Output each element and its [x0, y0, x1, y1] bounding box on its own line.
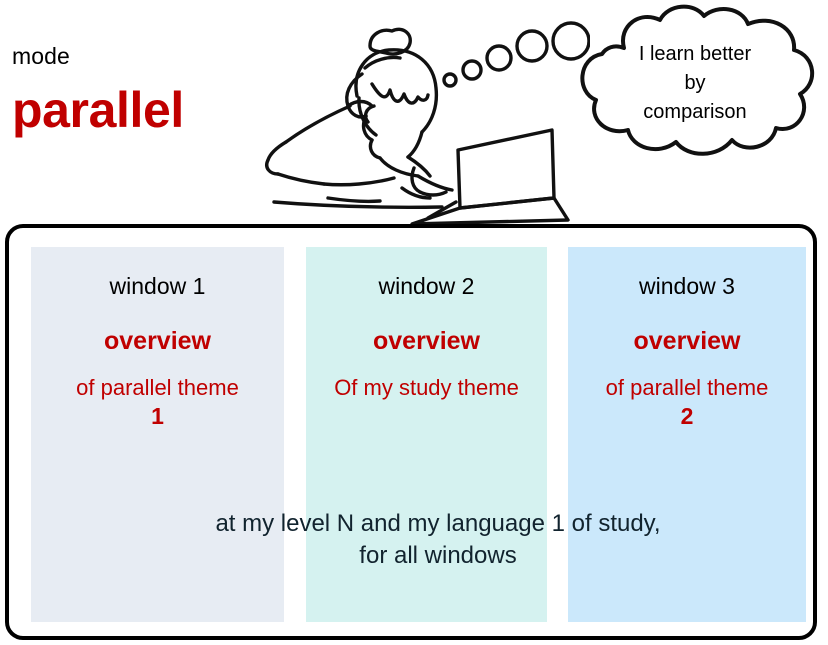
window-1-subtitle: of parallel theme: [31, 373, 284, 403]
windows-row: window 1 overview of parallel theme 1 wi…: [31, 247, 801, 622]
window-panel-1[interactable]: window 1 overview of parallel theme 1: [31, 247, 284, 622]
window-1-title: window 1: [31, 273, 284, 299]
window-3-title: window 3: [568, 273, 806, 299]
mode-label: mode: [12, 45, 70, 68]
windows-panel: window 1 overview of parallel theme 1 wi…: [5, 224, 817, 640]
window-1-overview: overview: [31, 327, 284, 356]
window-1-index: 1: [31, 403, 284, 431]
thought-bubble-line-3: comparison: [600, 98, 790, 127]
window-3-subtitle: of parallel theme: [568, 373, 806, 403]
window-2-subtitle: Of my study theme: [306, 373, 547, 403]
window-panel-2[interactable]: window 2 overview Of my study theme: [306, 247, 547, 622]
thought-bubble-line-2: by: [600, 69, 790, 98]
header-area: mode parallel: [0, 0, 828, 224]
mode-value: parallel: [12, 82, 184, 140]
window-3-overview: overview: [568, 327, 806, 356]
thought-bubble-line-1: I learn better: [600, 40, 790, 69]
window-3-index: 2: [568, 403, 806, 431]
window-2-overview: overview: [306, 327, 547, 356]
window-panel-3[interactable]: window 3 overview of parallel theme 2: [568, 247, 806, 622]
thought-bubble-text: I learn better by comparison: [600, 40, 790, 127]
window-2-title: window 2: [306, 273, 547, 299]
